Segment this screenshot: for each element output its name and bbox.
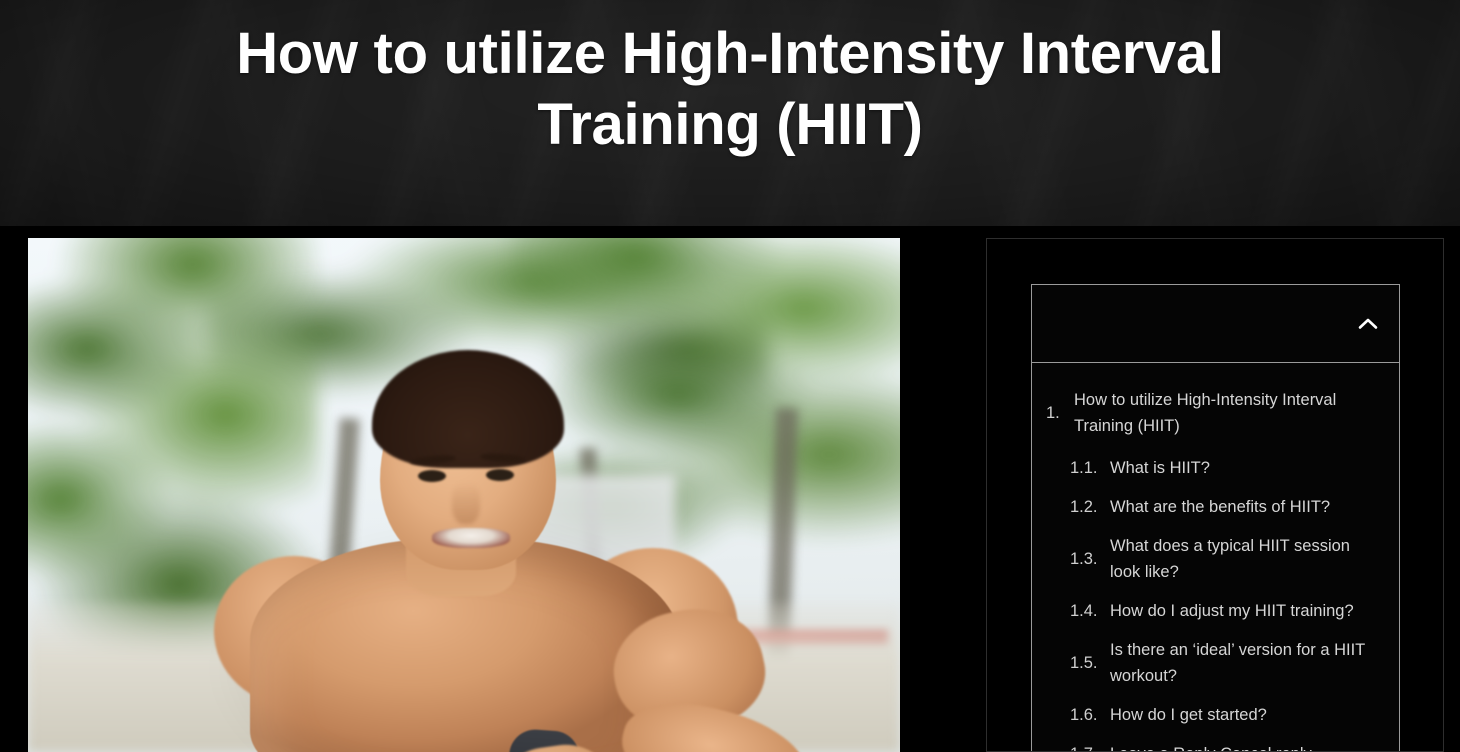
toc-item[interactable]: 1.1.What is HIIT?	[1046, 455, 1383, 481]
subject-nose	[452, 482, 480, 524]
featured-image	[28, 238, 900, 752]
featured-image-canvas	[28, 238, 900, 752]
toc-item-number: 1.3.	[1070, 546, 1102, 572]
photo-subject	[28, 238, 900, 752]
page-hero: How to utilize High-Intensity Interval T…	[0, 0, 1460, 226]
toc-list: 1.How to utilize High-Intensity Interval…	[1032, 363, 1399, 752]
toc-item-label: Is there an ‘ideal’ version for a HIIT w…	[1110, 637, 1383, 689]
toc-item-label: Leave a Reply Cancel reply	[1110, 741, 1383, 752]
toc-item-label: How to utilize High-Intensity Interval T…	[1074, 387, 1383, 439]
toc-item[interactable]: 1.5.Is there an ‘ideal’ version for a HI…	[1046, 637, 1383, 689]
toc-item-label: What are the benefits of HIIT?	[1110, 494, 1383, 520]
toc-item-number: 1.7.	[1070, 741, 1102, 752]
toc-item[interactable]: 1.How to utilize High-Intensity Interval…	[1046, 387, 1383, 439]
subject-mouth	[432, 528, 510, 548]
toc-item[interactable]: 1.7.Leave a Reply Cancel reply	[1046, 741, 1383, 752]
toc-item-number: 1.	[1046, 400, 1066, 426]
toc-item-label: How do I adjust my HIIT training?	[1110, 598, 1383, 624]
toc-item-number: 1.6.	[1070, 702, 1102, 728]
chevron-up-icon	[1358, 317, 1378, 330]
toc-header[interactable]	[1032, 285, 1399, 363]
toc-item-number: 1.1.	[1070, 455, 1102, 481]
toc-item[interactable]: 1.3.What does a typical HIIT session loo…	[1046, 533, 1383, 585]
sidebar: 1.How to utilize High-Intensity Interval…	[986, 238, 1444, 752]
table-of-contents: 1.How to utilize High-Intensity Interval…	[1031, 284, 1400, 752]
subject-eye	[418, 470, 446, 482]
toc-item-label: How do I get started?	[1110, 702, 1383, 728]
toc-item-number: 1.4.	[1070, 598, 1102, 624]
toc-item-number: 1.5.	[1070, 650, 1102, 676]
toc-item[interactable]: 1.6.How do I get started?	[1046, 702, 1383, 728]
page-title: How to utilize High-Intensity Interval T…	[225, 0, 1235, 160]
toc-collapse-button[interactable]	[1353, 309, 1383, 339]
toc-item-label: What is HIIT?	[1110, 455, 1383, 481]
toc-item-number: 1.2.	[1070, 494, 1102, 520]
toc-item-label: What does a typical HIIT session look li…	[1110, 533, 1383, 585]
toc-item[interactable]: 1.4.How do I adjust my HIIT training?	[1046, 598, 1383, 624]
subject-eye	[486, 469, 514, 481]
subject-hair	[372, 350, 564, 468]
toc-item[interactable]: 1.2.What are the benefits of HIIT?	[1046, 494, 1383, 520]
content-row: 1.How to utilize High-Intensity Interval…	[0, 226, 1460, 752]
